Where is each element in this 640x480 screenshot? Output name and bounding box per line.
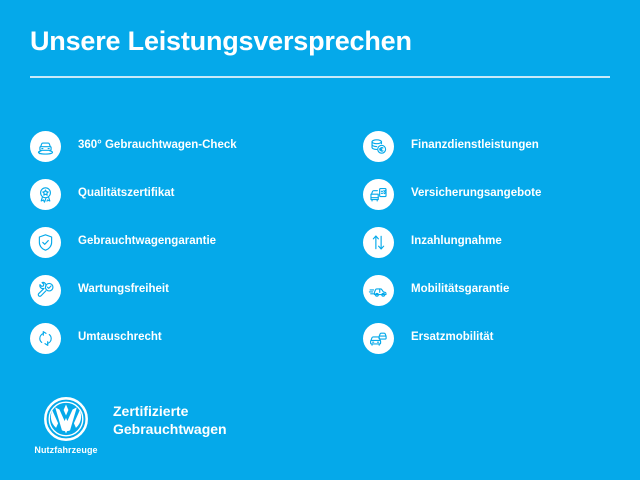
benefit-item-gebrauchtwagen-check[interactable]: 360° Gebrauchtwagen-Check bbox=[30, 122, 330, 170]
benefits-column-left: 360° Gebrauchtwagen-Check Qualitätszerti… bbox=[30, 122, 330, 362]
benefit-item-ersatzmobilitaet[interactable]: Ersatzmobilität bbox=[363, 314, 633, 362]
car-360-check-icon bbox=[30, 131, 61, 162]
footer-claim-line-2: Gebrauchtwagen bbox=[113, 420, 227, 438]
car-clipboard-icon bbox=[363, 179, 394, 210]
benefit-label: Umtauschrecht bbox=[78, 331, 162, 345]
brand-mark: Nutzfahrzeuge bbox=[32, 396, 100, 455]
benefit-label: Ersatzmobilität bbox=[411, 331, 493, 345]
benefit-item-gebrauchtwagengarantie[interactable]: Gebrauchtwagengarantie bbox=[30, 218, 330, 266]
arrows-up-down-icon bbox=[363, 227, 394, 258]
page-title: Unsere Leistungsversprechen bbox=[30, 26, 610, 57]
benefit-label: Qualitätszertifikat bbox=[78, 187, 175, 201]
benefit-item-umtauschrecht[interactable]: Umtauschrecht bbox=[30, 314, 330, 362]
footer-claim-line-1: Zertifizierte bbox=[113, 402, 227, 420]
benefit-label: Versicherungsangebote bbox=[411, 187, 541, 201]
benefits-grid: 360° Gebrauchtwagen-Check Qualitätszerti… bbox=[0, 122, 640, 362]
benefit-item-mobilitaetsgarantie[interactable]: Mobilitätsgarantie bbox=[363, 266, 633, 314]
shield-check-icon bbox=[30, 227, 61, 258]
quality-seal-icon bbox=[30, 179, 61, 210]
exchange-arrows-icon bbox=[30, 323, 61, 354]
benefit-label: Gebrauchtwagengarantie bbox=[78, 235, 216, 249]
benefit-label: Inzahlungnahme bbox=[411, 235, 502, 249]
benefit-label: Finanzdienstleistungen bbox=[411, 139, 539, 153]
benefits-column-right: Finanzdienstleistungen Versicheru bbox=[363, 122, 633, 362]
brand-subline: Nutzfahrzeuge bbox=[34, 445, 97, 455]
benefit-item-finanzdienstleistungen[interactable]: Finanzdienstleistungen bbox=[363, 122, 633, 170]
promise-slide: Unsere Leistungsversprechen 360° Gebrauc bbox=[0, 0, 640, 480]
benefit-item-qualitaetszertifikat[interactable]: Qualitätszertifikat bbox=[30, 170, 330, 218]
wrench-check-icon bbox=[30, 275, 61, 306]
benefit-item-versicherungsangebote[interactable]: Versicherungsangebote bbox=[363, 170, 633, 218]
benefit-item-inzahlungnahme[interactable]: Inzahlungnahme bbox=[363, 218, 633, 266]
two-cars-icon bbox=[363, 323, 394, 354]
footer-claim: Zertifizierte Gebrauchtwagen bbox=[113, 402, 227, 439]
title-divider bbox=[30, 76, 610, 78]
benefit-label: 360° Gebrauchtwagen-Check bbox=[78, 139, 237, 153]
header: Unsere Leistungsversprechen bbox=[30, 26, 610, 78]
benefit-label: Mobilitätsgarantie bbox=[411, 283, 509, 297]
footer-brand-lockup: Nutzfahrzeuge Zertifizierte Gebrauchtwag… bbox=[32, 396, 227, 455]
coins-euro-icon bbox=[363, 131, 394, 162]
benefit-item-wartungsfreiheit[interactable]: Wartungsfreiheit bbox=[30, 266, 330, 314]
car-motion-icon bbox=[363, 275, 394, 306]
vw-roundel-logo bbox=[43, 396, 89, 442]
benefit-label: Wartungsfreiheit bbox=[78, 283, 169, 297]
